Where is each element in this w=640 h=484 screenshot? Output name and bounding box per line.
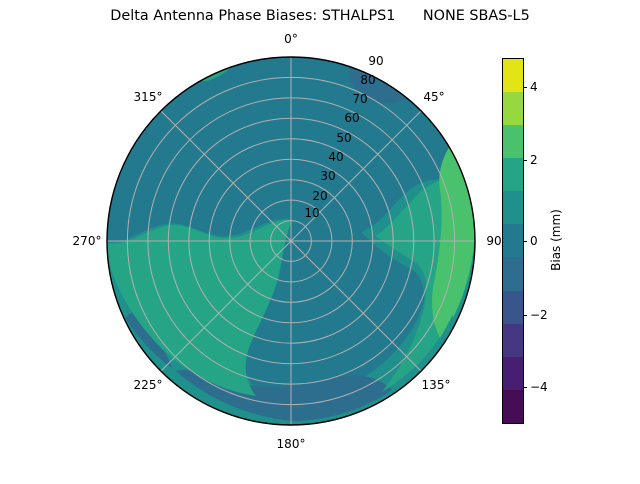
radial-tick-90: 90 — [368, 55, 383, 67]
figure-canvas: Delta Antenna Phase Biases: STHALPS1 NON… — [0, 0, 640, 480]
colorbar-band — [503, 291, 523, 324]
radial-tick-30: 30 — [320, 170, 335, 182]
radial-tick-10: 10 — [304, 207, 319, 219]
colorbar-band — [503, 158, 523, 191]
azimuth-label-270: 270° — [73, 235, 102, 247]
colorbar-band — [503, 357, 523, 390]
radial-tick-70: 70 — [352, 93, 367, 105]
azimuth-label-90: 90 — [486, 235, 501, 247]
azimuth-label-0: 0° — [284, 33, 298, 45]
radial-tick-40: 40 — [328, 151, 343, 163]
colorbar-tickmark-0 — [523, 241, 527, 242]
colorbar-band — [503, 191, 523, 224]
colorbar-tick-2: 2 — [530, 154, 538, 166]
azimuth-label-45: 45° — [423, 91, 444, 103]
polar-axes: 0° 45° 90 135° 180° 225° 270° 315° 10 20… — [0, 0, 640, 480]
azimuth-label-315: 315° — [134, 91, 163, 103]
radial-tick-50: 50 — [336, 132, 351, 144]
colorbar-band — [503, 92, 523, 125]
colorbar-band — [503, 390, 523, 423]
colorbar-tick-0: 0 — [530, 235, 538, 247]
colorbar-axis-label: Bias (mm) — [549, 209, 563, 271]
colorbar-tickmark-2 — [523, 160, 527, 161]
azimuth-label-180: 180° — [277, 438, 306, 450]
colorbar-tick-neg4: −4 — [530, 381, 548, 393]
colorbar-tickmark-neg4 — [523, 387, 527, 388]
colorbar-band — [503, 59, 523, 92]
colorbar-tickmark-neg2 — [523, 315, 527, 316]
colorbar-band — [503, 224, 523, 257]
radial-tick-60: 60 — [344, 112, 359, 124]
colorbar-band — [503, 125, 523, 158]
azimuth-label-135: 135° — [422, 379, 451, 391]
polar-grid-spokes — [107, 57, 475, 425]
colorbar-band — [503, 257, 523, 290]
colorbar-band — [503, 324, 523, 357]
radial-tick-80: 80 — [360, 74, 375, 86]
azimuth-label-225: 225° — [134, 379, 163, 391]
colorbar-tick-4: 4 — [530, 81, 538, 93]
radial-tick-20: 20 — [312, 190, 327, 202]
colorbar[interactable] — [502, 58, 524, 424]
colorbar-tick-neg2: −2 — [530, 309, 548, 321]
colorbar-tickmark-4 — [523, 87, 527, 88]
